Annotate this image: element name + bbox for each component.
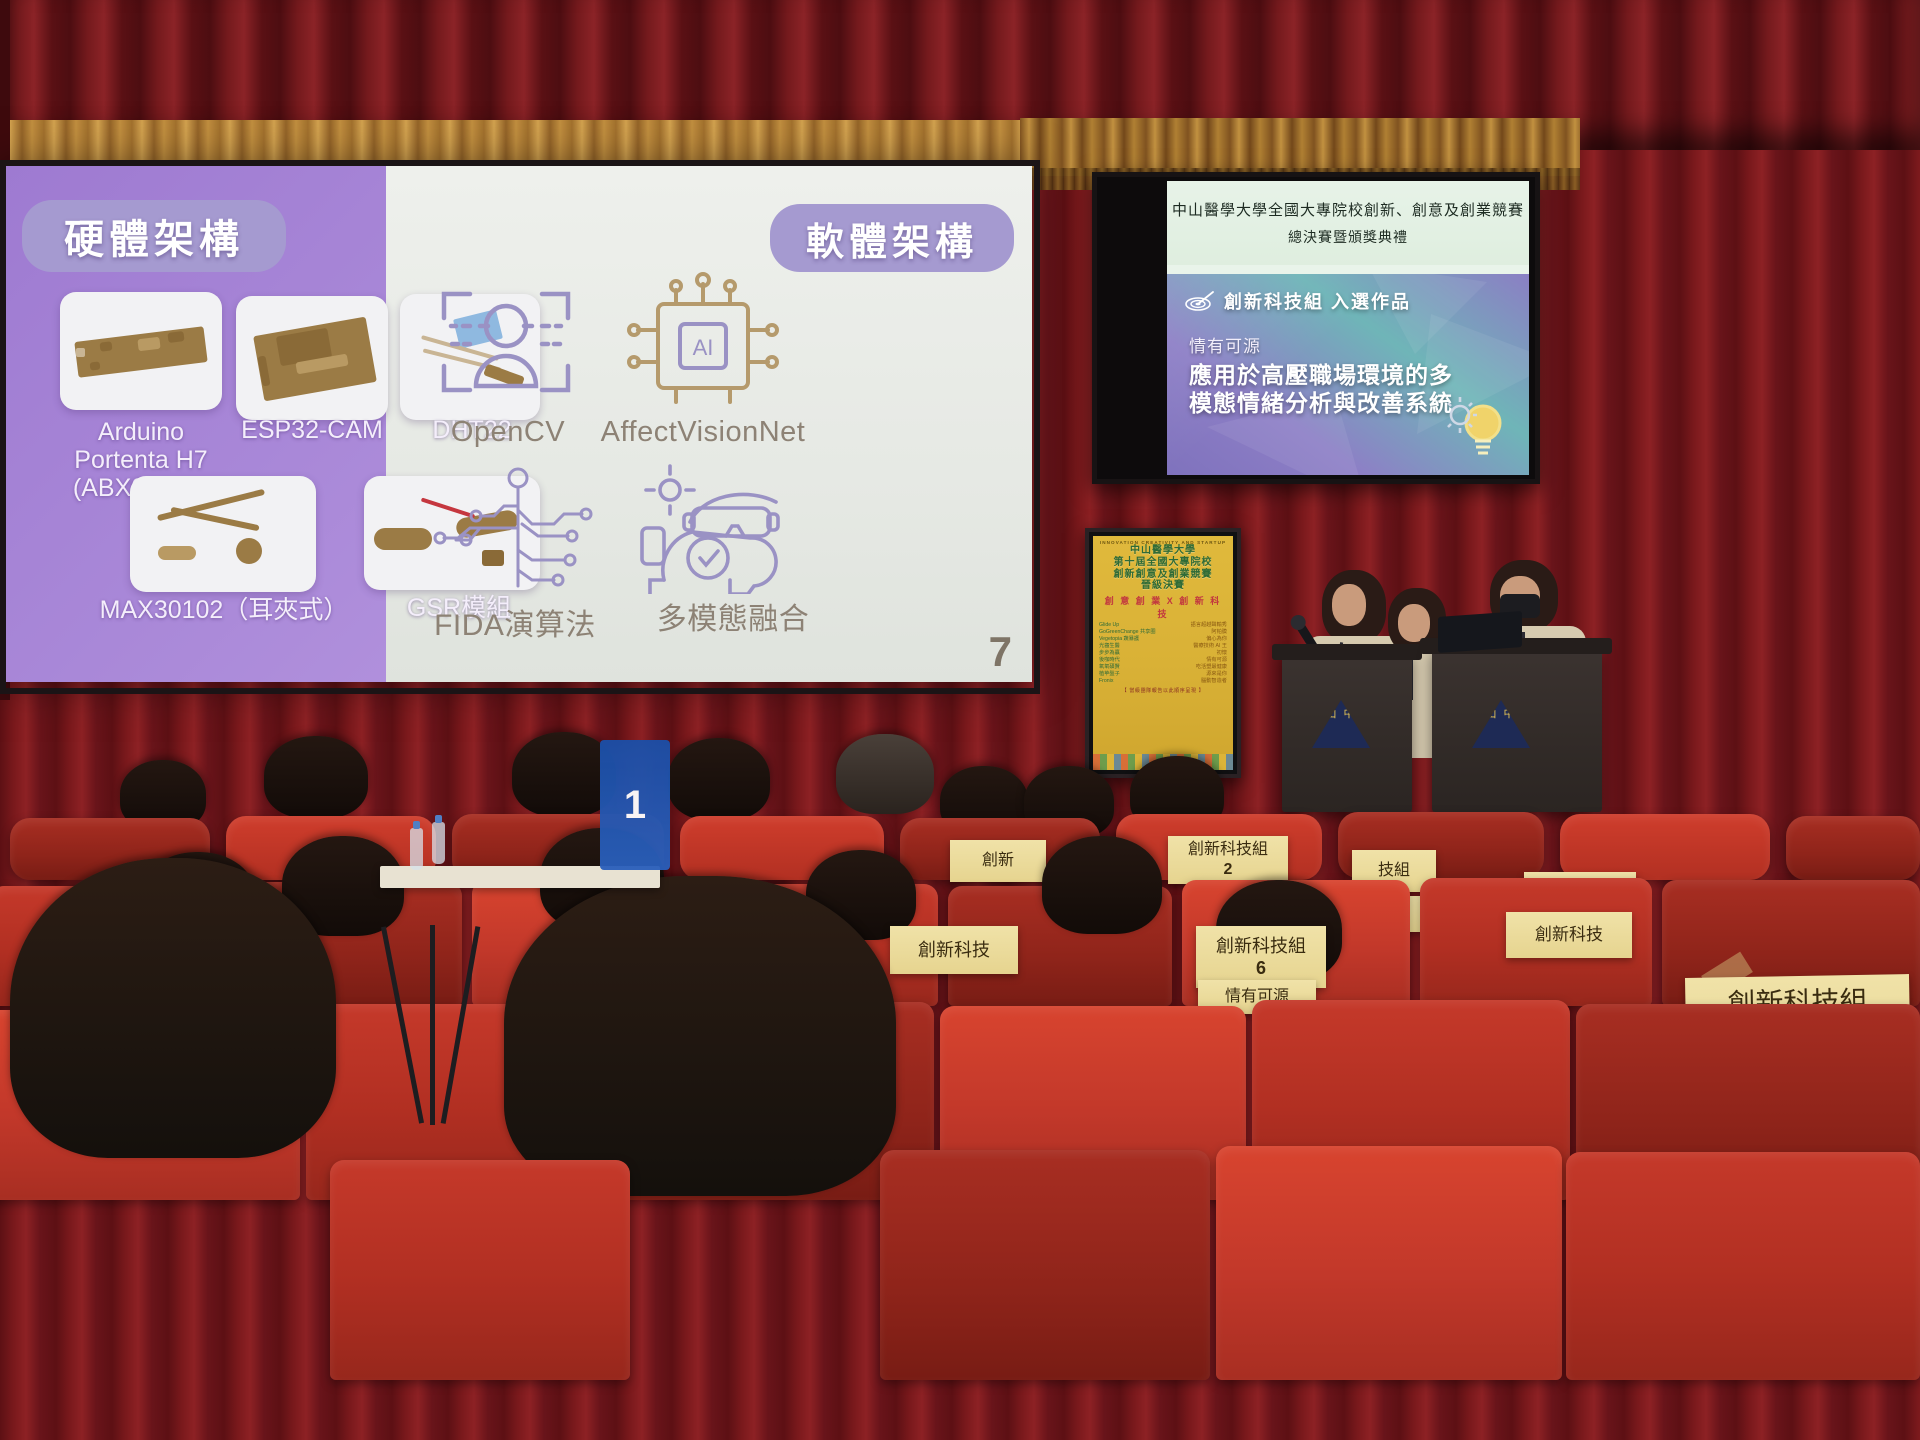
hardware-card-esp32 [236,296,388,420]
tv-header: 中山醫學大學全國大專院校創新、創意及創業競賽 總決賽暨頒獎典禮 [1167,181,1529,265]
target-dart-icon [1185,291,1215,311]
poster-team-row: Fronix 腦動智造者 [1098,678,1228,685]
tv-title-line-1: 應用於高壓職場環境的多 [1189,361,1459,389]
audience-area: 創新 創新科技組 2 技組 創新科技組 AI 王 [0,690,1920,1440]
seat-sign-line1: 創新科技 [918,939,990,962]
water-bottle [432,822,445,864]
tv-team-name: 情有可源 [1189,332,1459,357]
software-label-fusion: 多模態融合 [608,594,858,638]
tv-divider [1167,265,1529,274]
poster-heading-4: 晉級決賽 [1098,580,1228,592]
seat-sign-line2: 6 [1256,957,1266,980]
hardware-label-esp32: ESP32-CAM [232,416,392,444]
tv-category-label: 創新科技組 入選作品 [1224,288,1411,314]
hardware-section-title: 硬體架構 [22,200,286,272]
slide-page-number: 7 [989,628,1012,676]
poster-team-left: Fronix [1099,678,1113,685]
poster-heading-1: 中山醫學大學 [1098,545,1228,557]
seat-sign-line1: 創新科技組 [1216,935,1306,958]
valance-left [0,120,1100,166]
lectern-left-top [1272,644,1422,660]
seat-sign-line1: 技組 [1378,861,1410,881]
tv-screen-content: 中山醫學大學全國大專院校創新、創意及創業競賽 總決賽暨頒獎典禮 創新科技組 入選… [1167,181,1529,475]
tv-monitor: 中山醫學大學全國大專院校創新、創意及創業競賽 總決賽暨頒獎典禮 創新科技組 入選… [1092,172,1540,484]
seat-sign: 創新科技組 2 [1168,836,1288,884]
tv-category-row: 創新科技組 入選作品 [1185,288,1411,314]
face-detect-icon [426,274,586,410]
seat-sign: 創新科技 [1506,912,1632,958]
water-bottle [410,828,423,870]
seat-sign-line1: 創新 [982,851,1014,871]
poster-heading-2: 第十屆全國大專院校 [1098,557,1228,569]
seat-sign-line2: 2 [1224,860,1233,880]
camera-tripod [400,925,470,1140]
seat-sign: 創新科技 [890,926,1018,974]
svg-text:AI: AI [693,335,714,360]
number-banner: 1 [600,740,670,870]
seat-sign: 創新科技組 6 [1196,926,1326,988]
hardware-card-arduino [60,292,222,410]
software-label-opencv: OpenCV [420,416,596,449]
software-label-affectvisionnet: AffectVisionNet [580,416,826,449]
ai-chip-book-icon: AI [624,270,780,410]
vr-head-fusion-icon [634,462,802,594]
poster-x-line: 創 意 創 業 X 創 新 科 技 [1098,594,1228,620]
poster-team-right: 腦動智造者 [1201,678,1227,685]
projection-screen: 硬體架構 Arduino Portenta H7 (ABX00042) ESP3… [0,166,1032,682]
poster-heading-3: 創新創意及創業競賽 [1098,569,1228,581]
laptop-screen [1438,611,1522,653]
tv-title-block: 情有可源 應用於高壓職場環境的多 模態情緒分析與改善系統 [1189,332,1459,417]
software-section-title: 軟體架構 [770,204,1014,272]
seat-sign-line1: 創新科技組 [1188,840,1268,860]
tv-title-line-2: 模態情緒分析與改善系統 [1189,389,1459,417]
tv-body: 創新科技組 入選作品 情有可源 應用於高壓職場環境的多 模態情緒分析與改善系統 [1167,274,1529,475]
seat-sign: 創新 [950,840,1046,882]
seat-sign-line1: 創新科技 [1535,924,1603,945]
hardware-label-max30102: MAX30102（耳夾式） [96,596,352,624]
circuit-branch-icon [432,466,598,594]
poster-team-left: 植苹盤子 [1099,671,1120,678]
software-label-fida: FIDA演算法 [414,600,616,644]
lightbulb-gear-icon [1445,393,1519,467]
hardware-card-max30102 [130,476,316,592]
tv-header-line-2: 總決賽暨頒獎典禮 [1288,227,1408,247]
tv-header-line-1: 中山醫學大學全國大專院校創新、創意及創業競賽 [1172,199,1524,220]
auditorium-photo: 硬體架構 Arduino Portenta H7 (ABX00042) ESP3… [0,0,1920,1440]
